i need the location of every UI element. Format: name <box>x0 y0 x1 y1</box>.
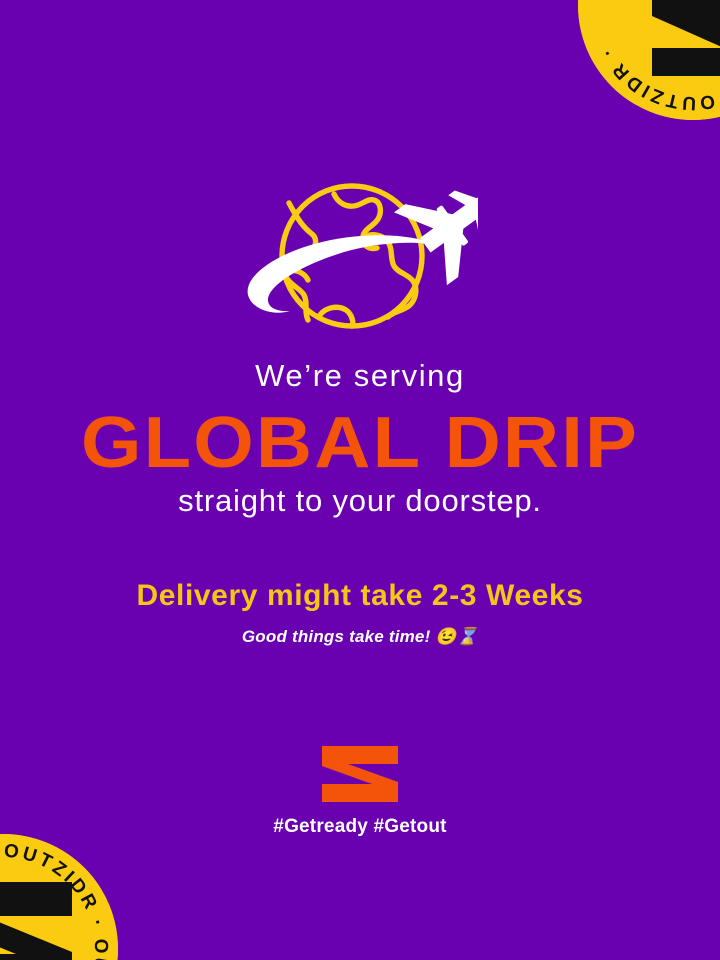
hero-icon-globe-airplane <box>0 176 720 346</box>
delivery-note-text: Delivery might take 2-3 Weeks <box>0 579 720 612</box>
tagline-text: Good things take time! 😉⌛ <box>0 628 720 647</box>
eyebrow-text: We’re serving <box>0 360 720 393</box>
copy-block: We’re serving GLOBAL DRIP straight to yo… <box>0 360 720 647</box>
badge-bottom-left: OUTZIDR · OUTZIDR · OUTZIDR · OUTZIDR · … <box>0 834 118 960</box>
footer-block: #Getready #Getout <box>0 744 720 838</box>
orbit-swoosh-icon <box>248 235 438 313</box>
badge-top-right: OUTZIDR · OUTZIDR · OUTZIDR · OUTZIDR · <box>578 0 720 120</box>
poster-canvas: OUTZIDR · OUTZIDR · OUTZIDR · OUTZIDR · … <box>0 0 720 960</box>
brand-z-logo <box>320 744 400 804</box>
headline-text: GLOBAL DRIP <box>0 407 720 479</box>
airplane-icon <box>394 176 478 285</box>
subhead-text: straight to your doorstep. <box>0 485 720 518</box>
hashtags-text: #Getready #Getout <box>0 816 720 838</box>
